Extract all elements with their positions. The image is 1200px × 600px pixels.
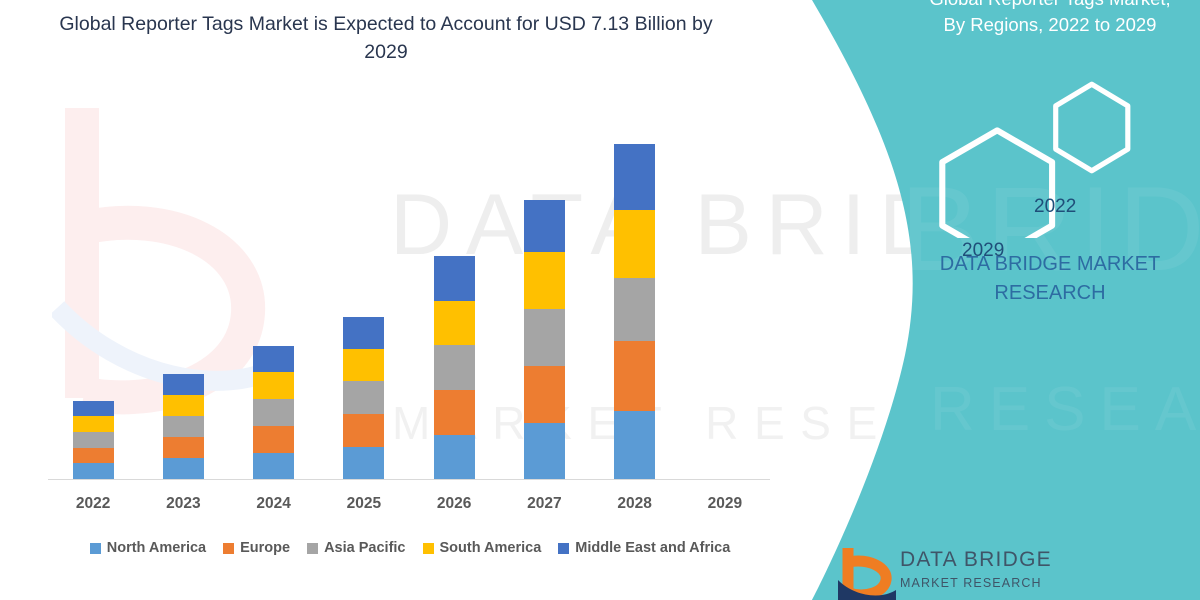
hexagon-label-2022: 2022 [1034, 196, 1076, 218]
panel-heading-line2: By Regions, 2022 to 2029 [944, 14, 1157, 35]
panel-brand-text: DATA BRIDGE MARKET RESEARCH [890, 250, 1200, 308]
logo-subtitle: MARKET RESEARCH [900, 576, 1042, 590]
logo-name: DATA BRIDGE [900, 548, 1052, 572]
hexagon-group: 2029 2022 [916, 78, 1186, 238]
brand-line-1: DATA BRIDGE MARKET [940, 253, 1160, 275]
panel-heading: Global Reporter Tags Market, By Regions,… [890, 0, 1200, 39]
infographic-canvas: DATA BRIDGE MARKET RESEARCH Global Repor… [0, 0, 1200, 600]
data-bridge-logo: DATA BRIDGE MARKET RESEARCH [838, 546, 1078, 600]
hexagon-2022-outline [1056, 84, 1128, 171]
panel-heading-line1: Global Reporter Tags Market, [929, 0, 1170, 9]
brand-line-2: RESEARCH [994, 282, 1105, 304]
logo-mark-icon [838, 546, 896, 600]
panel-content: Global Reporter Tags Market, By Regions,… [900, 0, 1200, 600]
hexagon-2029-outline [942, 130, 1052, 238]
